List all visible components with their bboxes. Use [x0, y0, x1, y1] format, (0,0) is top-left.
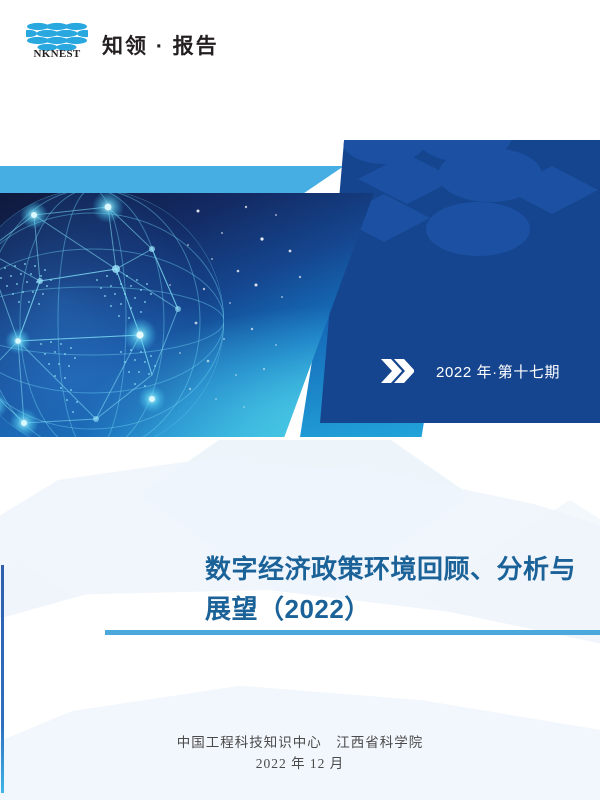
page-footer: 中国工程科技知识中心 江西省科学院 2022 年 12 月 [0, 733, 600, 775]
issue-badge: 2022 年·第十七期 [380, 358, 560, 384]
hero-banner [0, 140, 600, 445]
brand-lockup: NKNEST 知领 · 报告 [26, 22, 219, 66]
footer-organizations: 中国工程科技知识中心 江西省科学院 [0, 733, 600, 754]
double-chevron-right-icon [380, 358, 414, 384]
page-header: NKNEST 知领 · 报告 [0, 0, 600, 96]
footer-date: 2022 年 12 月 [0, 754, 600, 775]
hero-accent-strip [0, 166, 344, 194]
issue-label: 2022 年·第十七期 [436, 361, 560, 382]
title-underline-rule [105, 630, 600, 635]
brand-title: 知领 · 报告 [102, 36, 219, 57]
logo-wordmark: NKNEST [26, 49, 88, 60]
page-title: 数字经济政策环境回顾、分析与展望（2022） [0, 550, 600, 629]
panel-lens-shape [426, 202, 530, 256]
report-cover-page: NKNEST 知领 · 报告 [0, 0, 600, 800]
title-block: 数字经济政策环境回顾、分析与展望（2022） [0, 550, 600, 629]
nest-lens-logo: NKNEST [26, 22, 88, 66]
